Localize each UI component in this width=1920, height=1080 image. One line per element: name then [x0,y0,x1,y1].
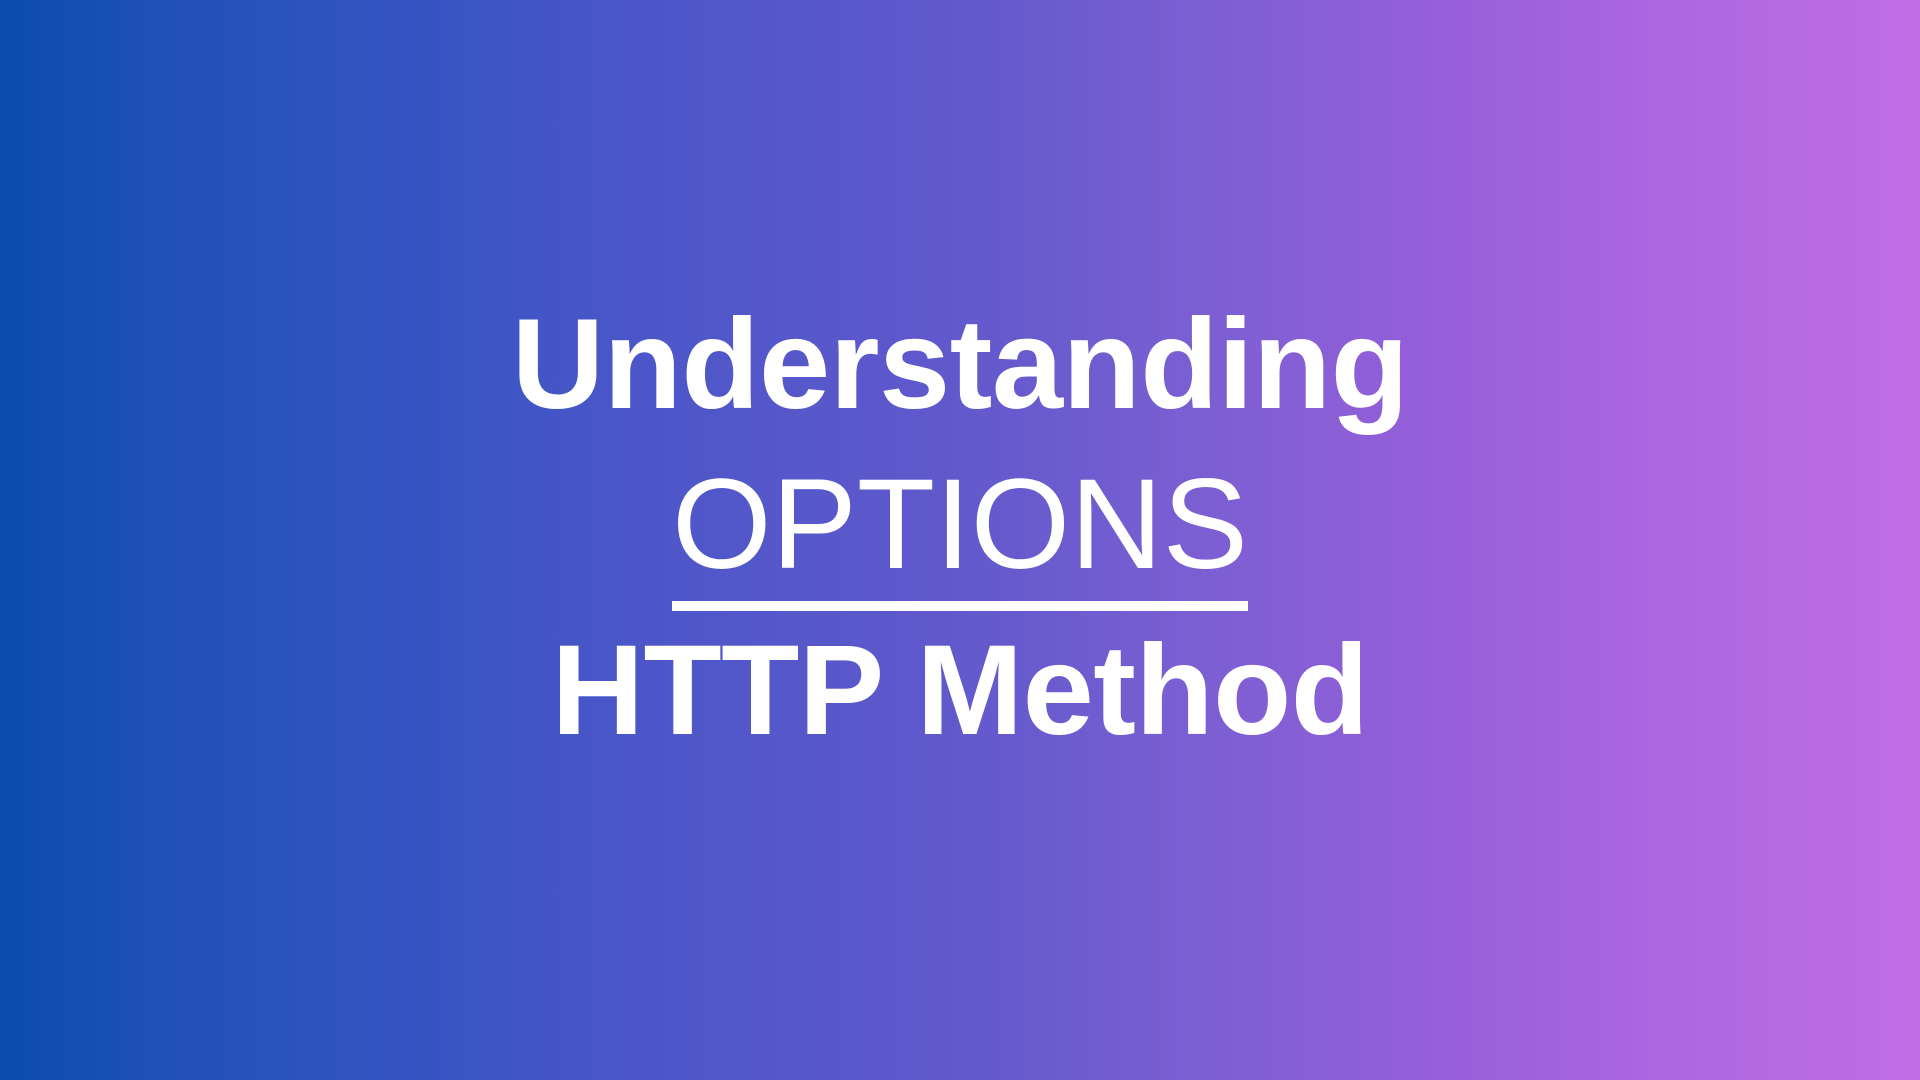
title-block: Understanding OPTIONS HTTP Method [0,285,1920,795]
title-line-understanding: Understanding [0,285,1920,445]
options-underlined-wrapper: OPTIONS [672,445,1248,611]
title-line-http-method: HTTP Method [0,611,1920,771]
options-underline-rule [672,601,1248,611]
title-line-options-label: OPTIONS [672,453,1248,596]
title-line-options: OPTIONS [0,445,1920,611]
title-slide: Understanding OPTIONS HTTP Method [0,0,1920,1080]
